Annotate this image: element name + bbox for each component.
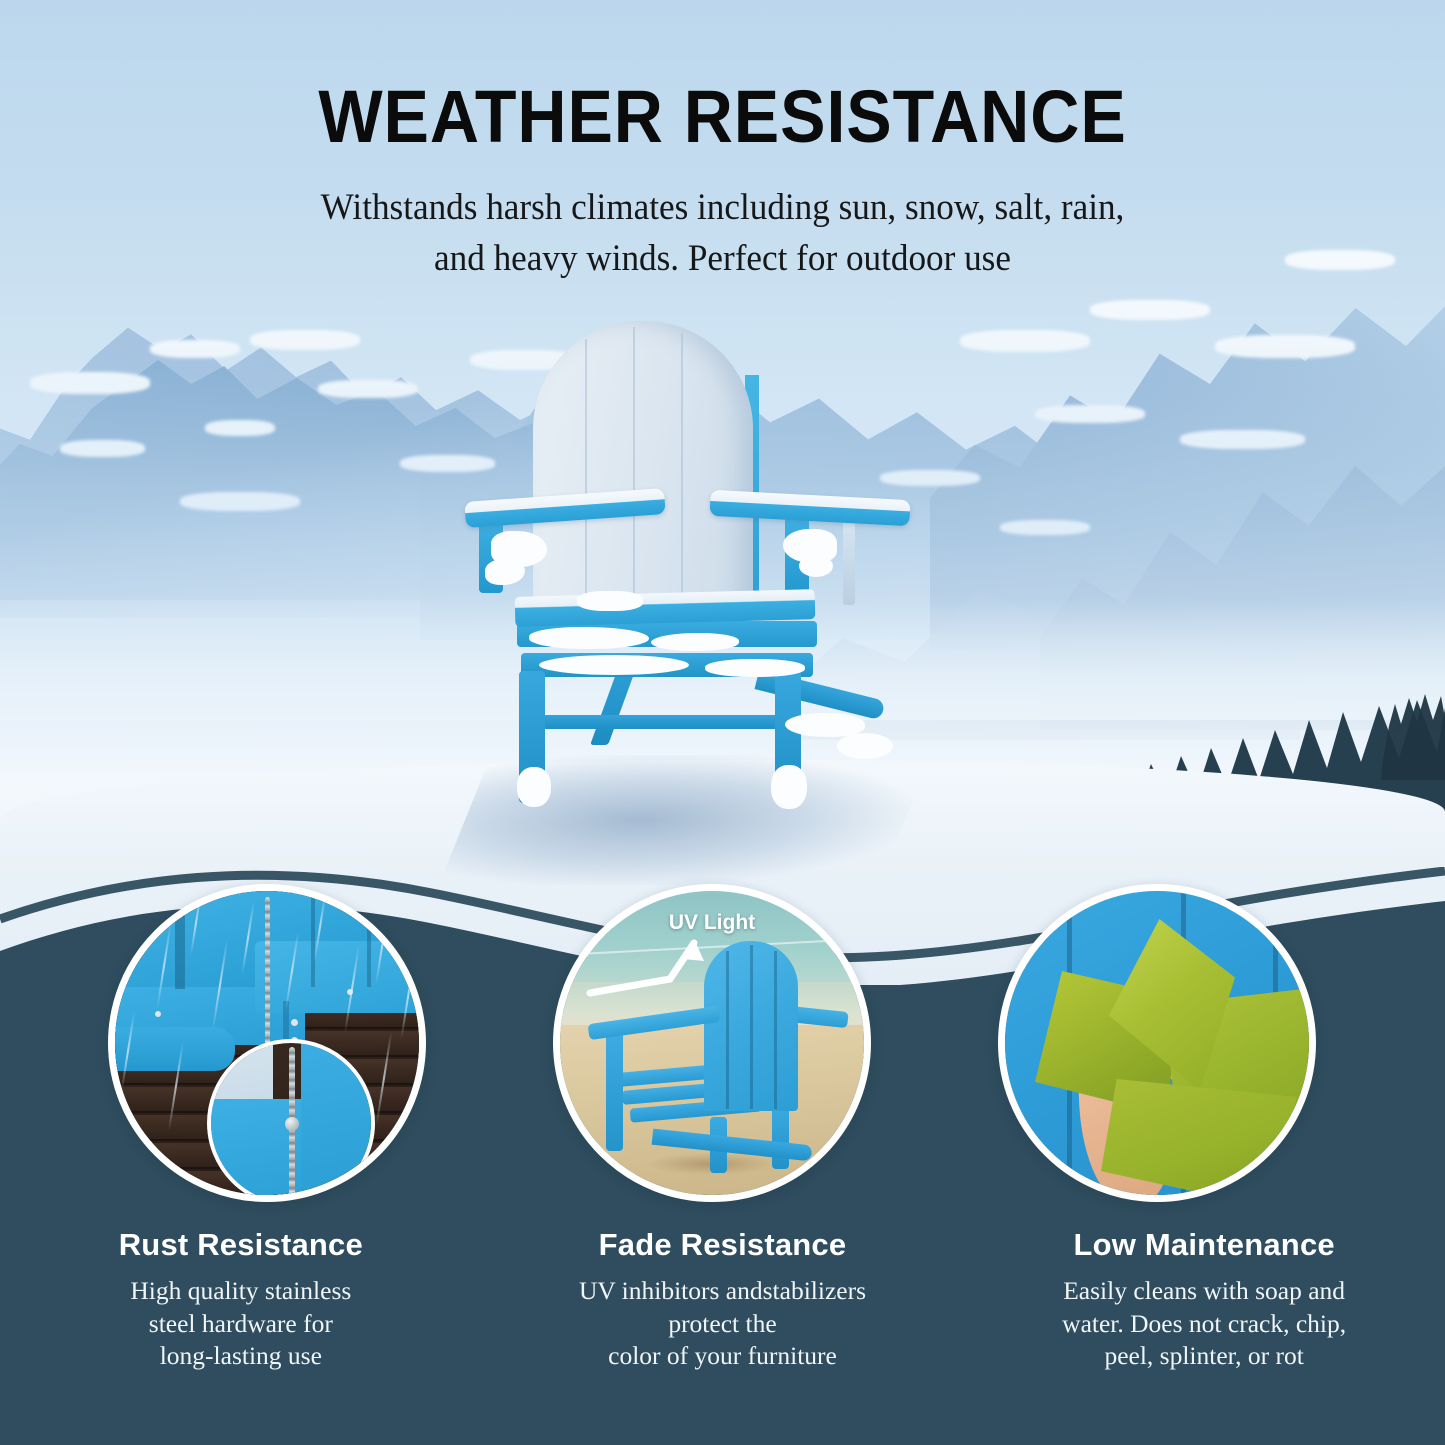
chain-detail-inset [207,1039,375,1195]
chair-slat-gap [750,945,753,1109]
chain-hardware [285,1117,299,1131]
feature-body-line-1: Easily cleans with soap and [985,1275,1423,1308]
feature-title: Low Maintenance [985,1228,1423,1262]
feature-caption-rust-resistance: Rust Resistance High quality stainless s… [0,1228,482,1373]
uv-light-label: UV Light [669,911,755,935]
feature-body-line-2: protect the [504,1308,942,1341]
beach-chair-leg-rear [772,1103,789,1169]
feature-caption-low-maintenance: Low Maintenance Easily cleans with soap … [963,1228,1445,1373]
feature-body-line-3: color of your furniture [504,1340,942,1373]
feature-body-line-1: High quality stainless [22,1275,460,1308]
chair-slat-gap [175,901,185,989]
chair-slat-gap [726,951,729,1109]
feature-image-fade-resistance: UV Light [553,884,871,1202]
feature-image-low-maintenance [998,884,1316,1202]
feature-image-rust-resistance [108,884,426,1202]
feature-caption-fade-resistance: Fade Resistance UV inhibitors andstabili… [482,1228,964,1373]
feature-body: High quality stainless steel hardware fo… [22,1262,460,1373]
feature-captions: Rust Resistance High quality stainless s… [0,1228,1445,1373]
screw [291,1019,298,1026]
feature-body-line-1: UV inhibitors andstabilizers [504,1275,942,1308]
feature-body-line-2: steel hardware for [22,1308,460,1341]
beach-chair-leg-left [606,1025,623,1151]
inset-chair-part-right [301,1043,371,1195]
chair-arm-rear [255,941,419,1013]
feature-title: Rust Resistance [22,1228,460,1262]
chair-slat-gap [367,895,371,987]
feature-body-line-2: water. Does not crack, chip, [985,1308,1423,1341]
chair-slat-gap [311,895,315,987]
feature-body: Easily cleans with soap and water. Does … [985,1262,1423,1373]
feature-body-line-3: peel, splinter, or rot [985,1340,1423,1373]
screw [155,1011,161,1017]
feature-title: Fade Resistance [504,1228,942,1262]
feature-body-line-3: long-lasting use [22,1340,460,1373]
feature-body: UV inhibitors andstabilizers protect the… [504,1262,942,1373]
chair-slat-gap [774,951,777,1109]
infographic-canvas: WEATHER RESISTANCE Withstands harsh clim… [0,0,1445,1445]
